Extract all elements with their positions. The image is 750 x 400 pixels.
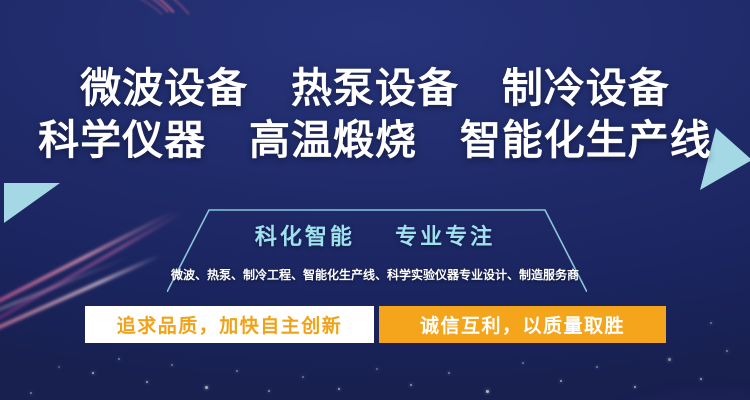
slogan-part-1: 科化智能 xyxy=(255,224,355,249)
banner-description: 微波、热泵、制冷工程、智能化生产线、科学实验仪器专业设计、制造服务商 xyxy=(0,266,750,283)
banner-slogan: 科化智能 专业专注 xyxy=(0,219,750,251)
slogan-part-2: 专业专注 xyxy=(395,224,495,249)
tagline-left-text: 追求品质，加快自主创新 xyxy=(117,311,343,338)
headline-term-refrigeration: 制冷设备 xyxy=(502,65,670,111)
headline-term-instruments: 科学仪器 xyxy=(38,117,206,163)
triangle-right-icon-left xyxy=(4,183,60,223)
promo-banner: 微波设备 热泵设备 制冷设备 科学仪器 高温煅烧 智能化生产线 科化智能 专业专… xyxy=(0,0,750,400)
headline-term-calcination: 高温煅烧 xyxy=(249,117,417,163)
headline-line-1: 微波设备 热泵设备 制冷设备 xyxy=(0,62,750,114)
banner-headline: 微波设备 热泵设备 制冷设备 科学仪器 高温煅烧 智能化生产线 xyxy=(0,62,750,166)
tagline-bar-left: 追求品质，加快自主创新 xyxy=(85,306,374,343)
headline-term-microwave: 微波设备 xyxy=(80,65,248,111)
tagline-bar-right: 诚信互利，以质量取胜 xyxy=(379,306,666,343)
headline-line-2: 科学仪器 高温煅烧 智能化生产线 xyxy=(0,114,750,166)
headline-term-production-line: 智能化生产线 xyxy=(460,117,712,163)
headline-term-heatpump: 热泵设备 xyxy=(291,65,459,111)
tagline-right-text: 诚信互利，以质量取胜 xyxy=(420,311,625,338)
